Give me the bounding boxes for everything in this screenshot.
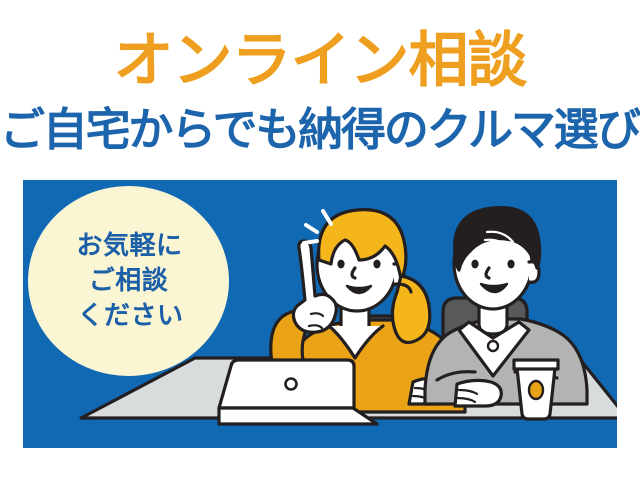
status-badge: お気軽に ご相談 ください [28, 186, 229, 376]
page-subtitle: ご自宅からでも納得のクルマ選びを [0, 104, 640, 156]
page-title: オンライン相談 [0, 28, 640, 94]
headline-area: オンライン相談 ご自宅からでも納得のクルマ選びを [0, 0, 640, 172]
online-consultation-banner: オンライン相談 ご自宅からでも納得のクルマ選びを [0, 0, 640, 480]
coffee-cup [514, 360, 558, 419]
badge-line-1: お気軽に [28, 228, 229, 263]
laptop [219, 360, 377, 424]
illustration-panel: お気軽に ご相談 ください [23, 180, 617, 448]
badge-line-2: ご相談 [28, 263, 229, 298]
badge-line-3: ください [28, 298, 229, 333]
badge-text: お気軽に ご相談 ください [28, 228, 229, 333]
